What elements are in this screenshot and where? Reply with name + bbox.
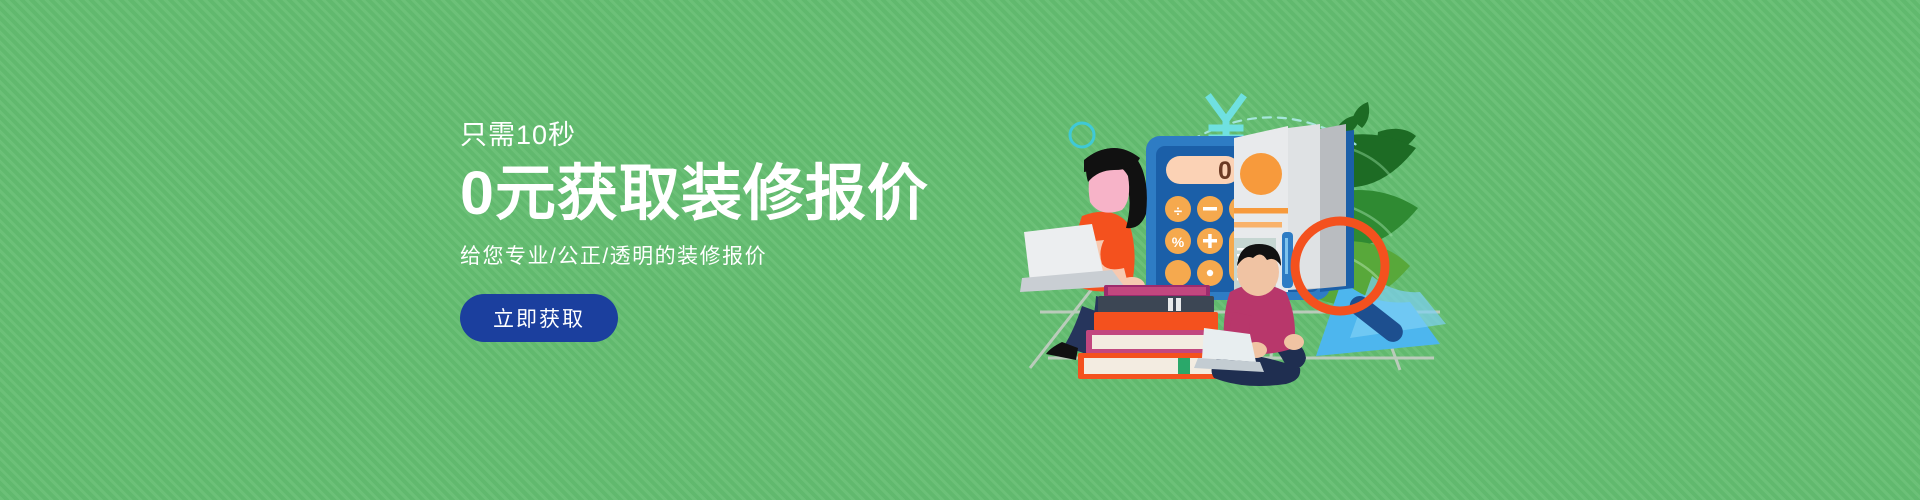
eyebrow-text: 只需10秒 — [460, 118, 980, 152]
renovation-quote-illustration: 0 ÷ AC % — [1020, 80, 1460, 390]
promo-banner: 只需10秒 0元获取装修报价 给您专业/公正/透明的装修报价 立即获取 — [0, 0, 1920, 500]
tagline-text: 给您专业/公正/透明的装修报价 — [460, 242, 980, 272]
svg-text:%: % — [1172, 234, 1185, 250]
cyan-ring-icon — [1070, 123, 1094, 147]
svg-text:÷: ÷ — [1174, 203, 1182, 220]
svg-text:0: 0 — [1218, 157, 1232, 185]
page-title: 0元获取装修报价 — [460, 160, 980, 226]
get-quote-button[interactable]: 立即获取 — [460, 294, 618, 342]
banner-copy-block: 只需10秒 0元获取装修报价 给您专业/公正/透明的装修报价 立即获取 — [460, 118, 980, 342]
